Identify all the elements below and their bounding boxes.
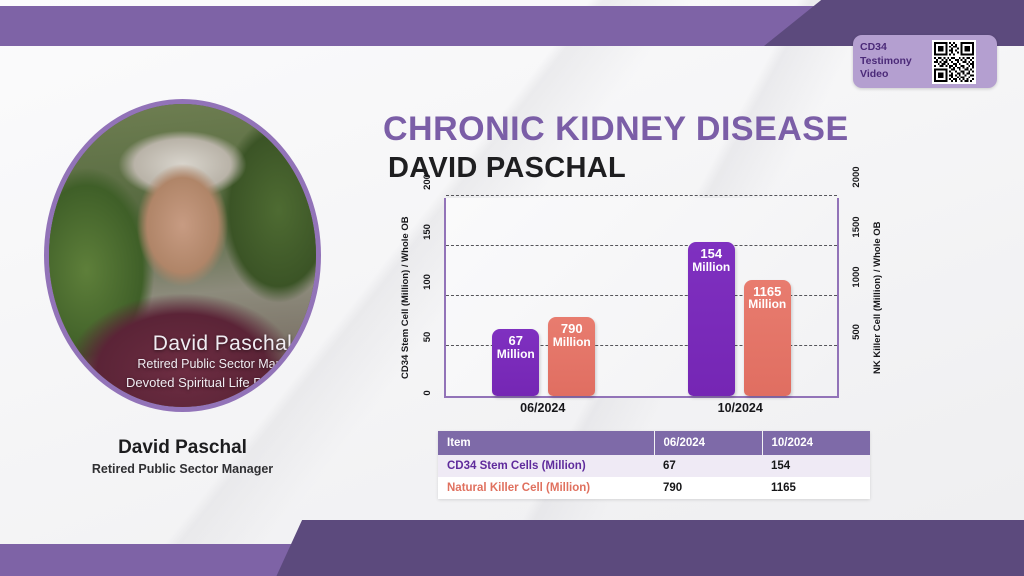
x-tick-label: 06/2024	[520, 401, 565, 415]
page-title: CHRONIC KIDNEY DISEASE	[383, 110, 849, 149]
y-tick-left: 100	[422, 274, 433, 290]
bar-value: 154	[700, 247, 722, 261]
bar-group: 67Million790Million	[492, 317, 595, 396]
y-tick-right: 500	[851, 324, 862, 340]
y-axis-right-title: NK Killer Cell (Million) / Whole OB	[870, 198, 885, 398]
bar[interactable]: 154Million	[688, 242, 735, 396]
plot-area: 67Million790Million154Million1165Million	[444, 198, 839, 398]
bar-unit: Million	[692, 261, 730, 275]
badge-label-line1: CD34	[860, 41, 926, 54]
bar-unit: Million	[748, 298, 786, 312]
cd34-testimony-video-badge[interactable]: CD34 Testimony Video	[853, 35, 997, 88]
table-header-202406: 06/2024	[654, 431, 762, 455]
badge-label-line3: Video	[860, 68, 926, 81]
bar[interactable]: 67Million	[492, 329, 539, 396]
bar-value: 1165	[753, 285, 781, 299]
y-tick-left: 0	[422, 390, 433, 395]
y-axis-left-ticks: 050100150200	[416, 198, 438, 398]
portrait-container: David Paschal Retired Public Sector Mana…	[44, 99, 321, 412]
row-label-cd34: CD34 Stem Cells (Million)	[438, 455, 654, 477]
bar-unit: Million	[553, 336, 591, 350]
top-purple-banner	[0, 6, 818, 46]
y-axis-right-ticks: 500100015002000	[845, 198, 867, 398]
bar-unit: Million	[497, 348, 535, 362]
x-axis-labels: 06/202410/2024	[444, 401, 839, 415]
cell-cd34-202410: 154	[762, 455, 870, 477]
y-tick-left: 200	[422, 174, 433, 190]
cell-nk-202406: 790	[654, 477, 762, 499]
bar[interactable]: 790Million	[548, 317, 595, 396]
bar-value: 790	[561, 322, 583, 336]
x-tick-label: 10/2024	[718, 401, 763, 415]
y-tick-right: 1000	[851, 266, 862, 287]
profile-name-block: David Paschal Retired Public Sector Mana…	[44, 437, 321, 476]
photo-overlay-name: David Paschal	[89, 332, 321, 356]
cell-nk-202410: 1165	[762, 477, 870, 499]
table-row: CD34 Stem Cells (Million) 67 154	[438, 455, 870, 477]
table-header-row: Item 06/2024 10/2024	[438, 431, 870, 455]
y-tick-left: 150	[422, 224, 433, 240]
qr-code-icon[interactable]	[932, 40, 976, 84]
y-tick-left: 50	[422, 332, 433, 343]
table-header-202410: 10/2024	[762, 431, 870, 455]
bar-group: 154Million1165Million	[688, 242, 791, 396]
photo-overlay-caption: David Paschal Retired Public Sector Mana…	[89, 332, 321, 390]
photo-overlay-sub: Devoted Spiritual Life Practitioner	[89, 375, 321, 390]
profile-role: Retired Public Sector Manager	[44, 462, 321, 476]
table-row: Natural Killer Cell (Million) 790 1165	[438, 477, 870, 499]
bar[interactable]: 1165Million	[744, 280, 791, 397]
badge-label: CD34 Testimony Video	[860, 41, 926, 81]
y-tick-right: 2000	[851, 166, 862, 187]
row-label-nk: Natural Killer Cell (Million)	[438, 477, 654, 499]
profile-name: David Paschal	[44, 437, 321, 459]
y-axis-left-title: CD34 Stem Cell (Million) / Whole OB	[398, 198, 413, 398]
table-header-item: Item	[438, 431, 654, 455]
gridline	[446, 195, 837, 196]
y-tick-right: 1500	[851, 216, 862, 237]
cell-cd34-202406: 67	[654, 455, 762, 477]
photo-overlay-role: Retired Public Sector Manager	[89, 357, 321, 371]
bar-value: 67	[509, 334, 523, 348]
data-table: Item 06/2024 10/2024 CD34 Stem Cells (Mi…	[438, 431, 870, 499]
bar-chart: CD34 Stem Cell (Million) / Whole OB NK K…	[398, 198, 885, 418]
avatar: David Paschal Retired Public Sector Mana…	[44, 99, 321, 412]
bar-series: 67Million790Million154Million1165Million	[446, 198, 837, 396]
badge-label-line2: Testimony	[860, 55, 926, 68]
